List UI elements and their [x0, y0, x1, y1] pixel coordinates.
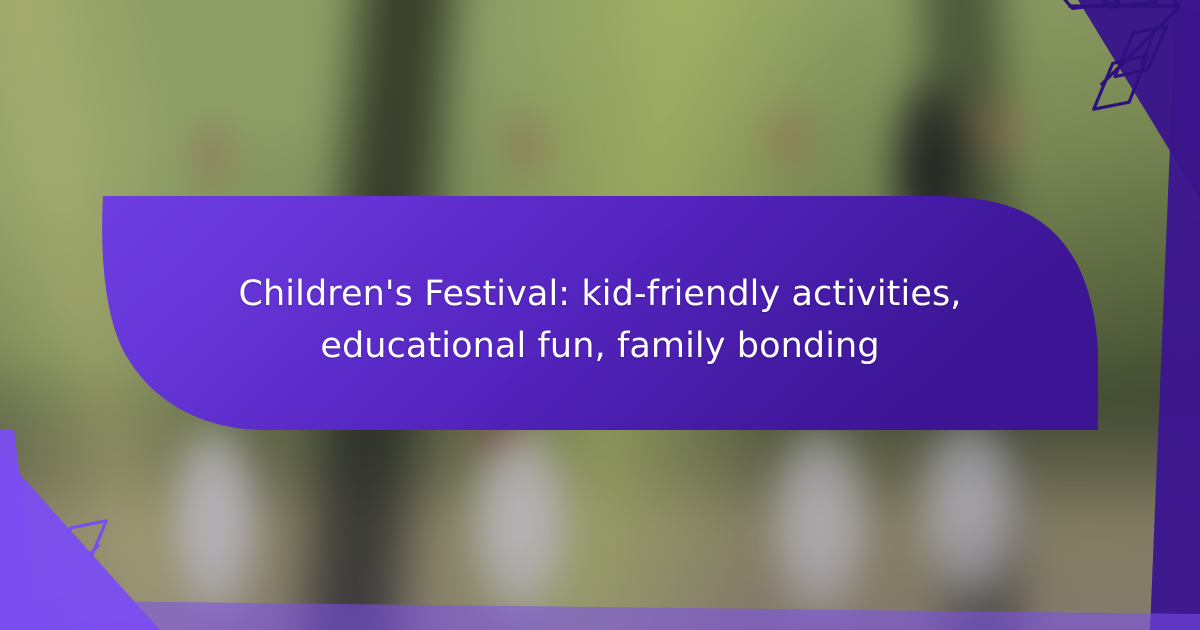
poster-canvas: Children's Festival: kid-friendly activi… [0, 0, 1200, 630]
headline-text: Children's Festival: kid-friendly activi… [150, 268, 1050, 372]
